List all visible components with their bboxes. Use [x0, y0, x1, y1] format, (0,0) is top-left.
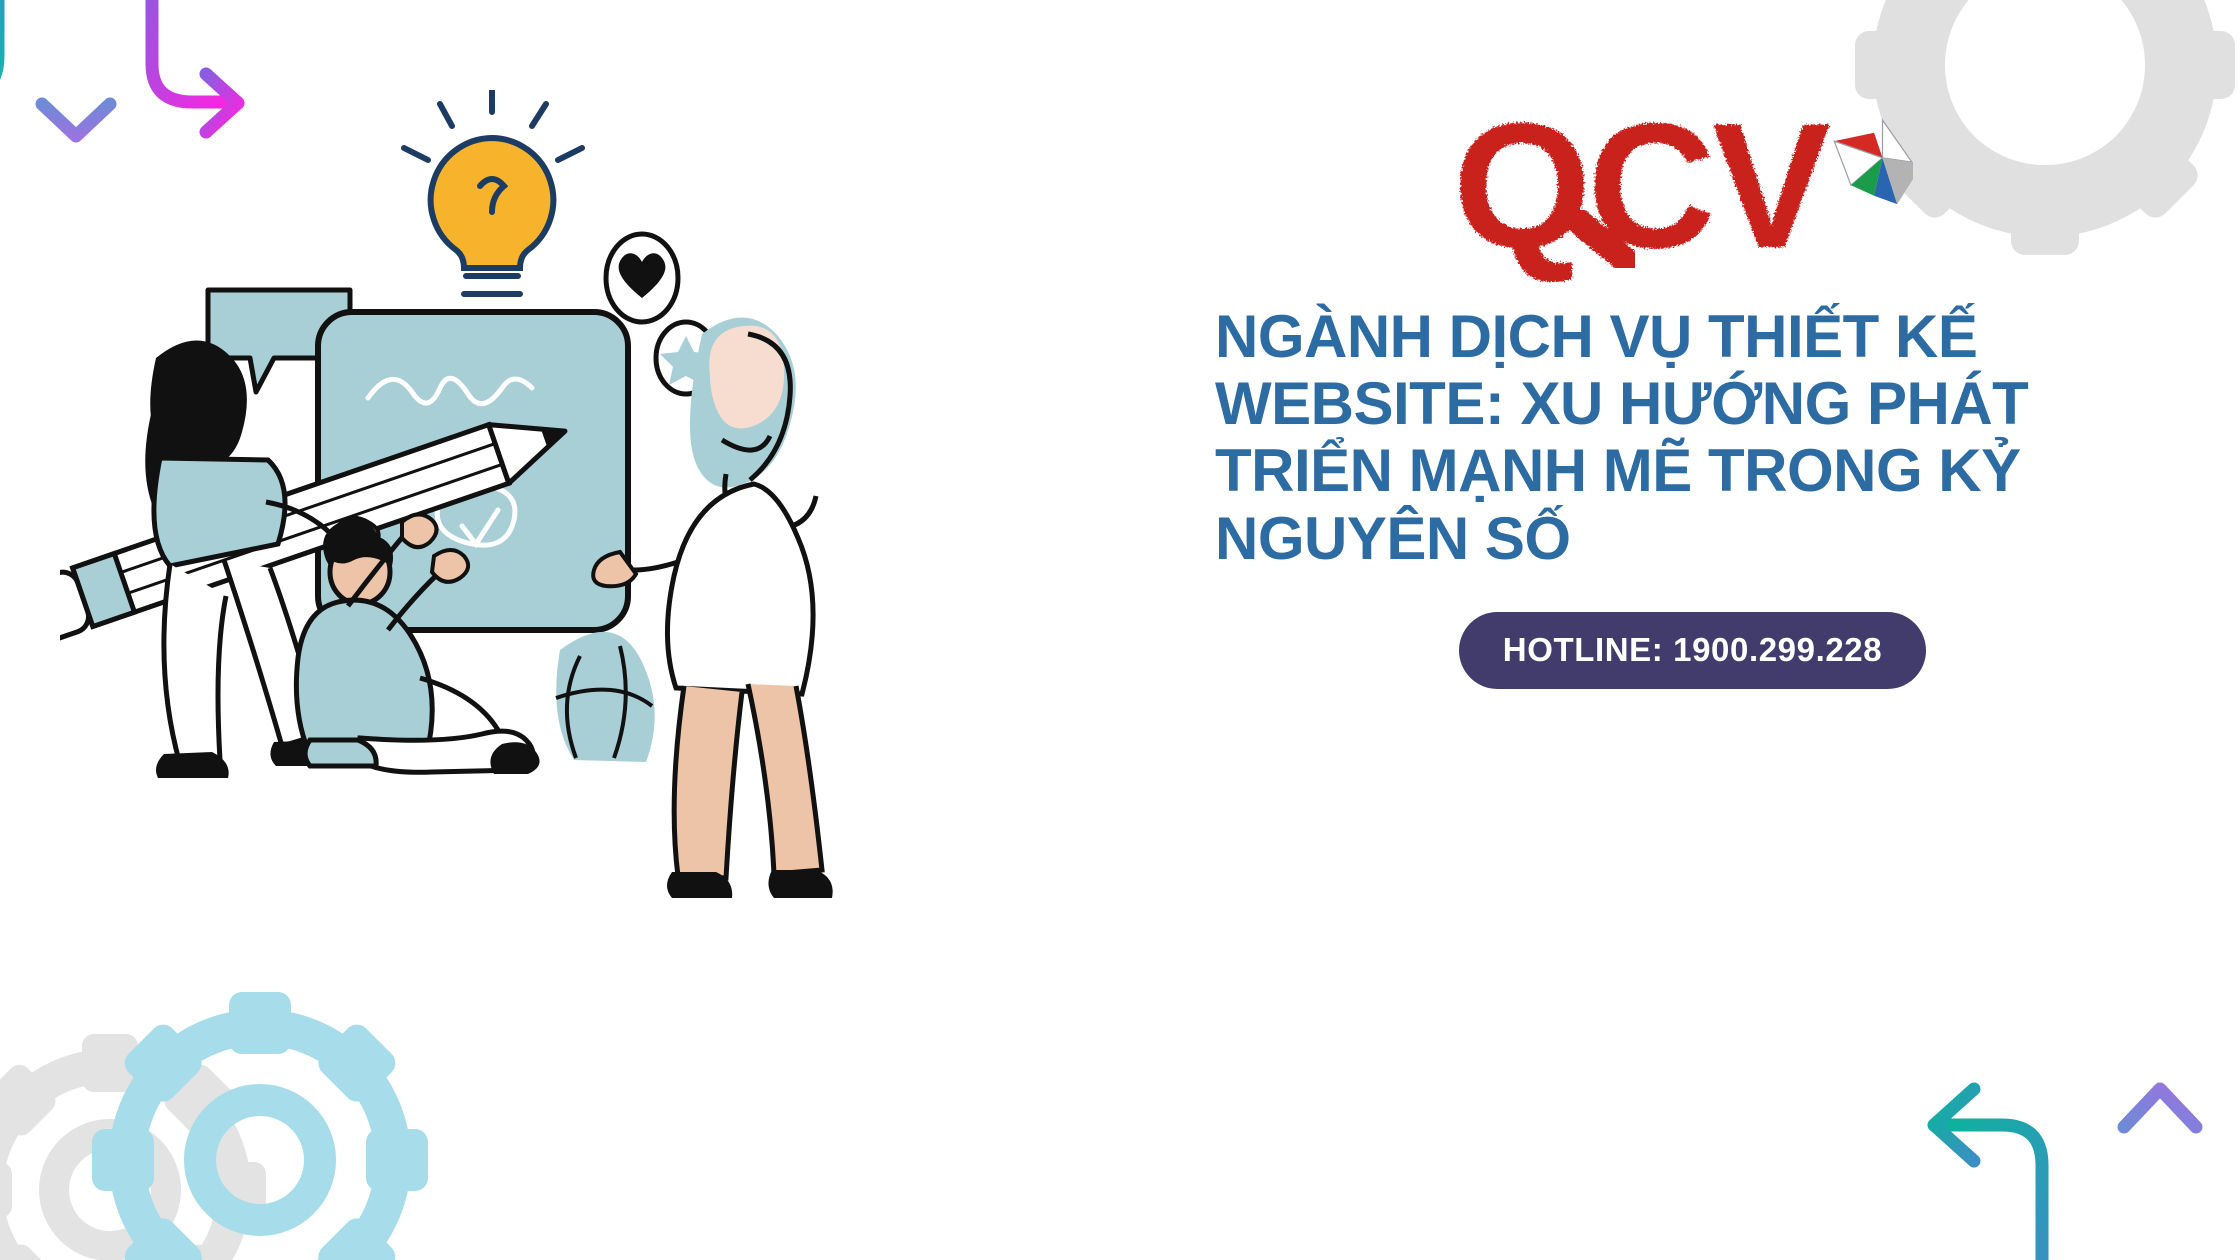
- page-title: NGÀNH DỊCH VỤ THIẾT KẾ WEBSITE: XU HƯỚNG…: [1215, 303, 2180, 572]
- hotline-row: HOTLINE: 1900.299.228: [1205, 612, 2180, 689]
- title-line-2: WEBSITE: XU HƯỚNG PHÁT: [1215, 370, 2180, 437]
- qcv-logo-text: QCV: [1453, 95, 1830, 285]
- title-line-1: NGÀNH DỊCH VỤ THIẾT KẾ: [1215, 303, 2180, 370]
- lightbulb-icon: [404, 90, 582, 312]
- hero-illustration: [60, 90, 1140, 1130]
- hotline-badge[interactable]: HOTLINE: 1900.299.228: [1459, 612, 1926, 689]
- plant-decoration: [556, 632, 655, 762]
- content-column: QCV: [1215, 95, 2180, 689]
- title-line-3: TRIỂN MẠNH MẼ TRONG KỶ: [1215, 437, 2180, 504]
- qcv-logo[interactable]: QCV: [1185, 95, 2180, 285]
- multicolor-star-icon: [1834, 120, 1913, 204]
- title-line-4: NGUYÊN SỐ: [1215, 505, 2180, 572]
- poster-canvas: QCV: [0, 0, 2240, 1260]
- heart-badge-icon: [606, 234, 678, 322]
- arrows-bottom-right-group: [1912, 1045, 2232, 1260]
